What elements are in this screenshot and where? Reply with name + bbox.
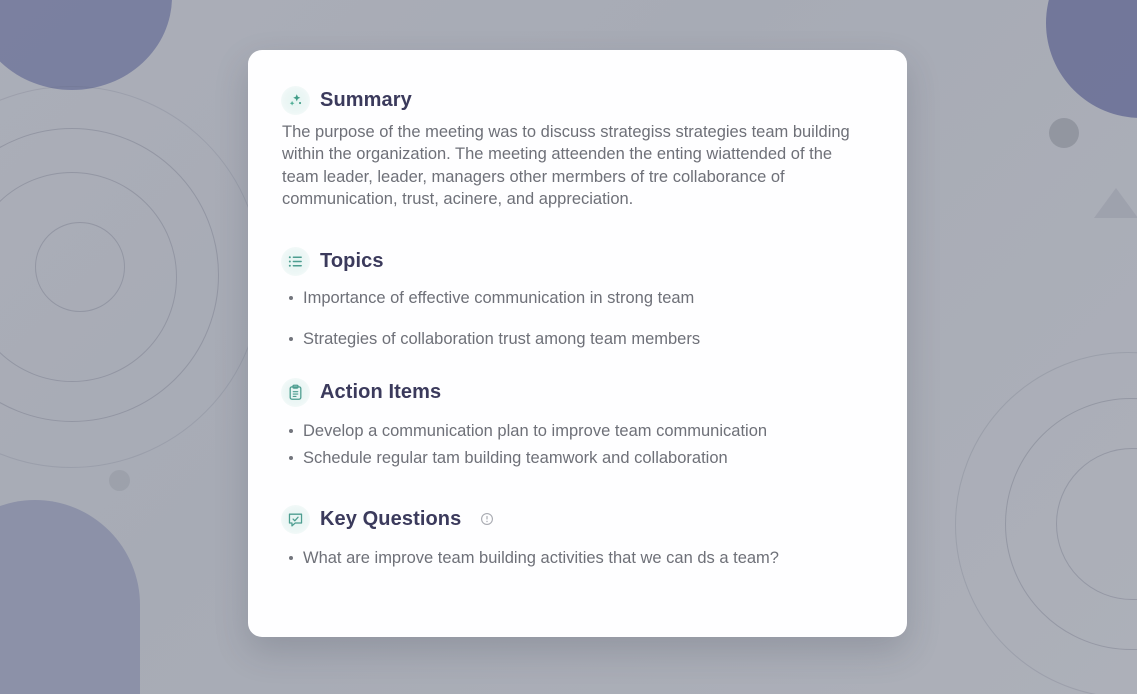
ring-outer-bottom-right-decoration <box>955 352 1137 694</box>
ring-inner-bottom-right-decoration <box>1056 448 1137 600</box>
meeting-notes-card: Summary The purpose of the meeting was t… <box>248 50 907 637</box>
comment-check-icon <box>281 505 310 534</box>
circle-top-right-decoration <box>1046 0 1137 118</box>
list-item: Importance of effective communication in… <box>303 288 867 309</box>
action-items-list: Develop a communication plan to improve … <box>281 421 867 469</box>
key-questions-list: What are improve team building activitie… <box>281 548 867 569</box>
summary-section: Summary The purpose of the meeting was t… <box>281 86 867 211</box>
info-circle-icon[interactable] <box>480 512 494 526</box>
topics-list: Importance of effective communication in… <box>281 288 867 350</box>
action-items-title: Action Items <box>320 381 441 404</box>
key-questions-title: Key Questions <box>320 508 461 531</box>
action-items-heading-row: Action Items <box>281 378 867 407</box>
list-item: Develop a communication plan to improve … <box>303 421 867 442</box>
action-items-section: Action Items Develop a communication pla… <box>281 378 867 469</box>
summary-paragraph: The purpose of the meeting was to discus… <box>282 121 867 211</box>
topics-section: Topics Importance of effective communica… <box>281 247 867 350</box>
rounded-blob-bottom-left-decoration <box>0 500 140 694</box>
list-item: Schedule regular tam building teamwork a… <box>303 448 867 469</box>
ring-core-top-left-decoration <box>35 222 125 312</box>
list-icon <box>281 247 310 276</box>
ring-outer-top-left-decoration <box>0 86 262 468</box>
topics-title: Topics <box>320 250 384 273</box>
ring-mid-bottom-right-decoration <box>1005 398 1137 650</box>
key-questions-heading-row: Key Questions <box>281 505 867 534</box>
list-item: Strategies of collaboration trust among … <box>303 329 867 350</box>
topics-heading-row: Topics <box>281 247 867 276</box>
summary-title: Summary <box>320 89 412 112</box>
summary-heading-row: Summary <box>281 86 867 115</box>
small-dot-right-decoration <box>1049 118 1079 148</box>
sparkle-icon <box>281 86 310 115</box>
small-dot-left-decoration <box>109 470 130 491</box>
triangle-right-decoration <box>1094 188 1137 218</box>
app-background: Summary The purpose of the meeting was t… <box>0 0 1137 694</box>
ring-mid-top-left-decoration <box>0 128 219 422</box>
ring-inner-top-left-decoration <box>0 172 177 382</box>
list-item: What are improve team building activitie… <box>303 548 867 569</box>
circle-top-left-decoration <box>0 0 172 90</box>
key-questions-section: Key Questions What are improve team buil… <box>281 505 867 569</box>
clipboard-icon <box>281 378 310 407</box>
